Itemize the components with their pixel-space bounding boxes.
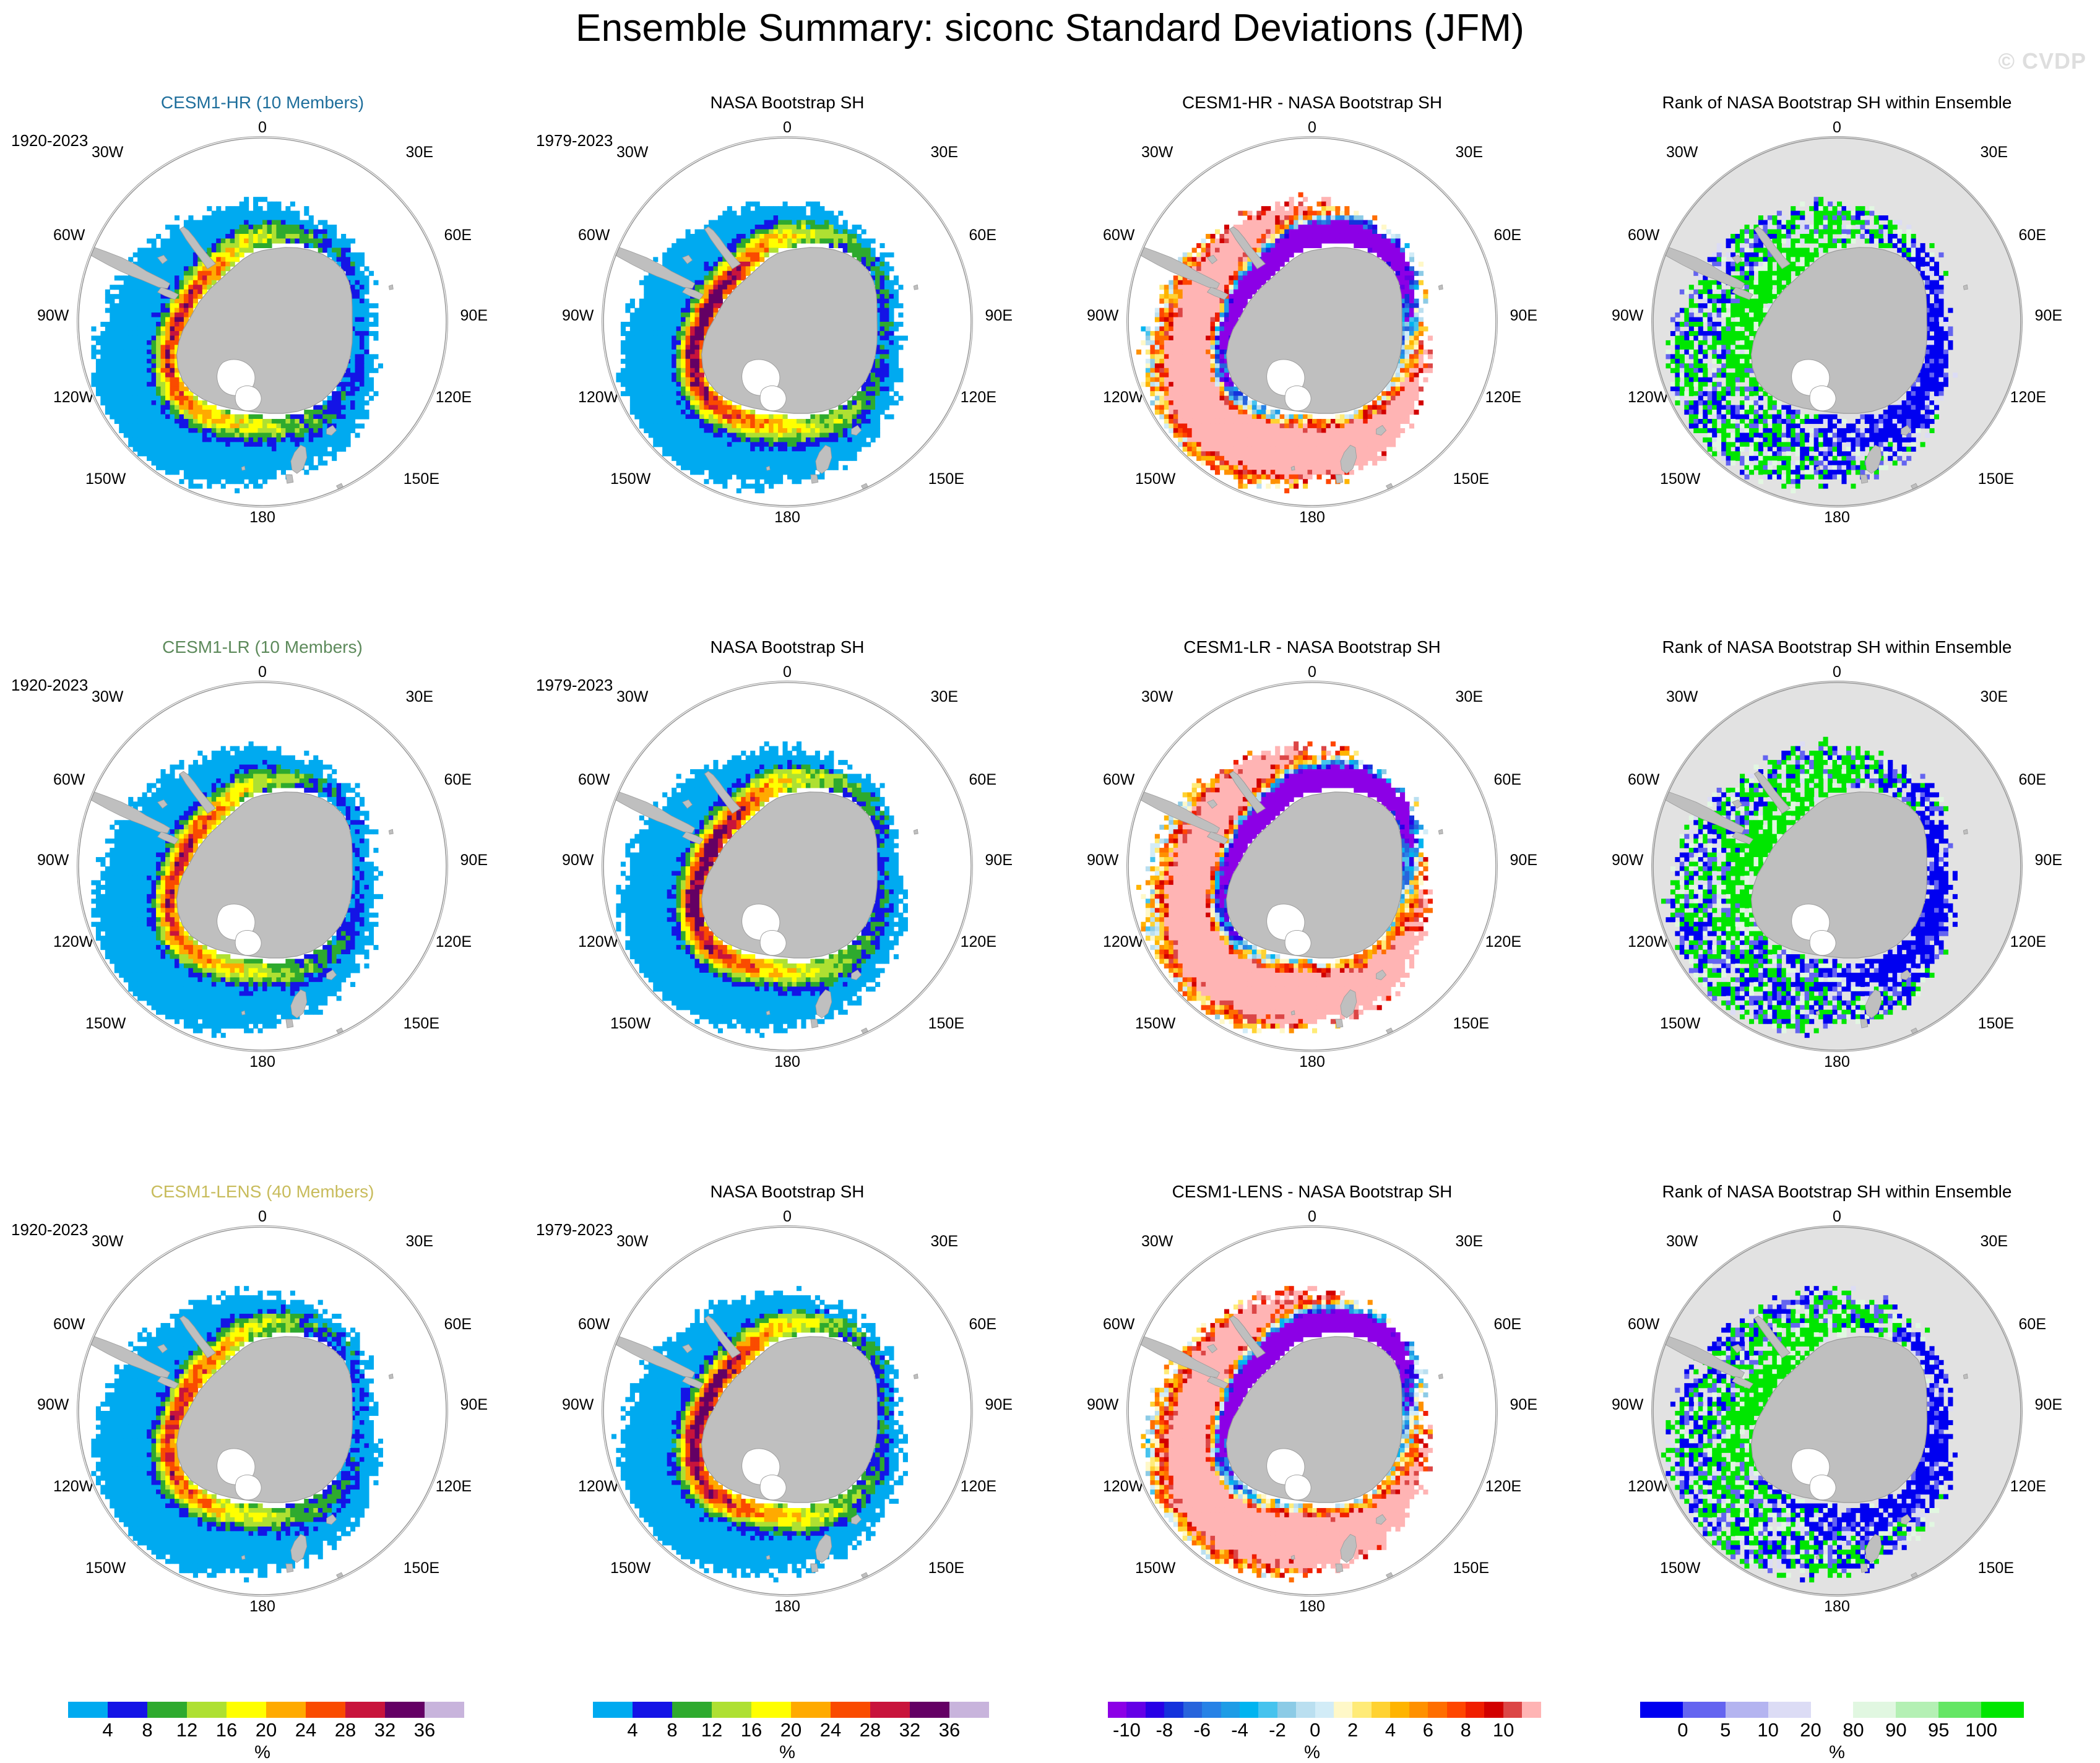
longitude-label: 90E [1510, 307, 1537, 325]
colorbar-segment [1258, 1702, 1277, 1718]
colorbar-unit-label: % [1575, 1743, 2099, 1763]
longitude-label: 90E [460, 307, 488, 325]
longitude-label: 0 [783, 1208, 792, 1226]
map-panel-lens-obs[interactable]: NASA Bootstrap SH1979-2023030W30E60W60E9… [525, 1182, 1050, 1726]
longitude-label: 180 [1824, 1053, 1850, 1071]
map-container: 030W30E60W60E90W90E120W120E150W150E180 [1108, 1212, 1516, 1670]
colorbar-ticks: 4812162024283236 [68, 1719, 464, 1744]
map-container: 030W30E60W60E90W90E120W120E150W150E180 [1633, 667, 2041, 1125]
colorbar-tick-label: 36 [414, 1719, 435, 1741]
colorbar-strip [1640, 1702, 2024, 1718]
colorbar-tick-label: 20 [1800, 1719, 1821, 1741]
map-container: 030W30E60W60E90W90E120W120E150W150E180 [1633, 1212, 2041, 1670]
panel-title: Rank of NASA Bootstrap SH within Ensembl… [1575, 1182, 2099, 1202]
colorbar-segment [1981, 1702, 2024, 1718]
map-container: 030W30E60W60E90W90E120W120E150W150E180 [58, 1212, 467, 1670]
map-container: 030W30E60W60E90W90E120W120E150W150E180 [583, 1212, 992, 1670]
panel-title: Rank of NASA Bootstrap SH within Ensembl… [1575, 93, 2099, 113]
longitude-label: 180 [1299, 1598, 1325, 1616]
map-panel-lr-std[interactable]: CESM1-LR (10 Members)1920-2023030W30E60W… [0, 637, 525, 1182]
longitude-label: 180 [1824, 1598, 1850, 1616]
longitude-label: 0 [1308, 1208, 1316, 1226]
colorbar-segment [1164, 1702, 1183, 1718]
longitude-label: 0 [258, 663, 267, 681]
colorbar-segment [1938, 1702, 1981, 1718]
longitude-label: 60E [444, 771, 472, 789]
longitude-label: 0 [1833, 119, 1841, 137]
colorbar-segment [1202, 1702, 1221, 1718]
panel-title: NASA Bootstrap SH [525, 637, 1050, 657]
colorbar-segment [1409, 1702, 1428, 1718]
colorbar-segment [1240, 1702, 1258, 1718]
panel-title: NASA Bootstrap SH [525, 93, 1050, 113]
colorbar-segment [1126, 1702, 1145, 1718]
panel-grid: CESM1-HR (10 Members)1920-2023030W30E60W… [0, 93, 2100, 1726]
longitude-label: 0 [783, 119, 792, 137]
polar-map-svg [1127, 681, 1497, 1051]
longitude-label: 90W [1612, 851, 1643, 869]
colorbar-segment [949, 1702, 989, 1718]
longitude-label: 60E [2019, 771, 2046, 789]
stereographic-disc [1651, 136, 2023, 507]
colorbar-tick-label: 4 [627, 1719, 637, 1741]
colorbar-tick-label: 5 [1720, 1719, 1731, 1741]
colorbar-segment [791, 1702, 831, 1718]
stereographic-disc [77, 681, 448, 1052]
stereographic-disc [602, 681, 973, 1052]
colorbar-tick-label: 24 [820, 1719, 841, 1741]
colorbar-tick-label: 24 [295, 1719, 316, 1741]
colorbar-unit-label: % [1050, 1743, 1575, 1763]
map-container: 030W30E60W60E90W90E120W120E150W150E180 [58, 123, 467, 580]
longitude-label: 90E [2035, 307, 2062, 325]
colorbar-segment [1390, 1702, 1409, 1718]
colorbar-segment [1768, 1702, 1811, 1718]
colorbar-unit-label: % [0, 1743, 525, 1763]
longitude-label: 60E [1494, 226, 1521, 244]
colorbar-segment [831, 1702, 870, 1718]
colorbar-tick-label: -6 [1193, 1719, 1211, 1741]
colorbar-row: 4812162024283236%4812162024283236%-10-8-… [0, 1697, 2100, 1762]
map-container: 030W30E60W60E90W90E120W120E150W150E180 [583, 123, 992, 580]
map-container: 030W30E60W60E90W90E120W120E150W150E180 [1108, 123, 1516, 580]
longitude-label: 90W [1612, 307, 1643, 325]
stereographic-disc [602, 1225, 973, 1597]
colorbar-tick-label: 100 [1965, 1719, 1997, 1741]
map-panel-hr-diff[interactable]: CESM1-HR - NASA Bootstrap SH030W30E60W60… [1050, 93, 1575, 637]
colorbar-segment [108, 1702, 147, 1718]
map-panel-hr-obs[interactable]: NASA Bootstrap SH1979-2023030W30E60W60E9… [525, 93, 1050, 637]
longitude-label: 180 [249, 1598, 275, 1616]
longitude-label: 180 [774, 1053, 800, 1071]
colorbar-segment [1726, 1702, 1768, 1718]
colorbar-segment [751, 1702, 791, 1718]
longitude-label: 90E [1510, 1396, 1537, 1414]
panel-title: CESM1-LENS (40 Members) [0, 1182, 525, 1202]
colorbar-tick-label: 10 [1757, 1719, 1778, 1741]
longitude-label: 90E [460, 851, 488, 869]
longitude-label: 180 [1824, 509, 1850, 527]
map-panel-hr-std[interactable]: CESM1-HR (10 Members)1920-2023030W30E60W… [0, 93, 525, 637]
panel-title: CESM1-LR (10 Members) [0, 637, 525, 657]
longitude-label: 90E [985, 1396, 1013, 1414]
colorbar-2: -10-8-6-4-20246810% [1050, 1697, 1575, 1762]
colorbar-1: 4812162024283236% [525, 1697, 1050, 1762]
longitude-label: 60E [1494, 771, 1521, 789]
longitude-label: 0 [1833, 663, 1841, 681]
polar-map-svg [77, 1226, 447, 1596]
stereographic-disc [1651, 681, 2023, 1052]
page-title: Ensemble Summary: siconc Standard Deviat… [0, 6, 2100, 50]
map-container: 030W30E60W60E90W90E120W120E150W150E180 [1633, 123, 2041, 580]
longitude-label: 90E [985, 307, 1013, 325]
colorbar-ticks: 4812162024283236 [593, 1719, 989, 1744]
colorbar-segment [1466, 1702, 1484, 1718]
longitude-label: 0 [1308, 119, 1316, 137]
longitude-label: 0 [258, 1208, 267, 1226]
longitude-label: 90E [2035, 1396, 2062, 1414]
stereographic-disc [77, 1225, 448, 1597]
cvdp-watermark: © CVDP [1998, 48, 2086, 74]
colorbar-tick-label: 8 [142, 1719, 152, 1741]
stereographic-disc [1126, 136, 1498, 507]
colorbar-tick-label: 28 [335, 1719, 356, 1741]
longitude-label: 180 [774, 509, 800, 527]
panel-row-lr: CESM1-LR (10 Members)1920-2023030W30E60W… [0, 637, 2100, 1182]
longitude-label: 60E [444, 226, 472, 244]
panel-title: NASA Bootstrap SH [525, 1182, 1050, 1202]
colorbar-segment [266, 1702, 306, 1718]
longitude-label: 0 [783, 663, 792, 681]
colorbar-tick-label: 0 [1677, 1719, 1688, 1741]
colorbar-0: 4812162024283236% [0, 1697, 525, 1762]
longitude-label: 180 [249, 1053, 275, 1071]
map-panel-lr-rank[interactable]: Rank of NASA Bootstrap SH within Ensembl… [1575, 637, 2099, 1182]
colorbar-tick-label: -8 [1156, 1719, 1173, 1741]
stereographic-disc [602, 136, 973, 507]
colorbar-tick-label: 4 [1385, 1719, 1396, 1741]
colorbar-segment [1896, 1702, 1938, 1718]
colorbar-segment [68, 1702, 108, 1718]
longitude-label: 180 [774, 1598, 800, 1616]
colorbar-segment [1296, 1702, 1315, 1718]
longitude-label: 90W [562, 1396, 594, 1414]
longitude-label: 90W [1087, 307, 1118, 325]
polar-map-svg [602, 1226, 972, 1596]
colorbar-tick-label: 20 [780, 1719, 802, 1741]
map-panel-hr-rank[interactable]: Rank of NASA Bootstrap SH within Ensembl… [1575, 93, 2099, 637]
colorbar-tick-label: 20 [256, 1719, 277, 1741]
longitude-label: 90W [1087, 851, 1118, 869]
stereographic-disc [1126, 1225, 1498, 1597]
polar-map-svg [602, 137, 972, 507]
map-panel-lens-std[interactable]: CESM1-LENS (40 Members)1920-2023030W30E6… [0, 1182, 525, 1726]
polar-map-svg [77, 137, 447, 507]
polar-map-svg [1652, 681, 2022, 1051]
colorbar-strip [68, 1702, 464, 1718]
polar-map-svg [1127, 1226, 1497, 1596]
colorbar-tick-label: 8 [667, 1719, 677, 1741]
colorbar-segment [425, 1702, 464, 1718]
colorbar-tick-label: 80 [1843, 1719, 1864, 1741]
longitude-label: 90E [2035, 851, 2062, 869]
panel-title: Rank of NASA Bootstrap SH within Ensembl… [1575, 637, 2099, 657]
colorbar-strip [1108, 1702, 1541, 1718]
panel-row-lens: CESM1-LENS (40 Members)1920-2023030W30E6… [0, 1182, 2100, 1726]
colorbar-segment [1221, 1702, 1240, 1718]
panel-title: CESM1-LR - NASA Bootstrap SH [1050, 637, 1575, 657]
colorbar-segment [1503, 1702, 1522, 1718]
panel-title: CESM1-HR (10 Members) [0, 93, 525, 113]
longitude-label: 90W [562, 307, 594, 325]
colorbar-tick-label: 95 [1928, 1719, 1949, 1741]
colorbar-segment [187, 1702, 227, 1718]
colorbar-segment [1334, 1702, 1352, 1718]
polar-map-svg [1652, 1226, 2022, 1596]
colorbar-tick-label: 12 [176, 1719, 197, 1741]
colorbar-segment [1352, 1702, 1371, 1718]
longitude-label: 0 [1308, 663, 1316, 681]
longitude-label: 90W [37, 307, 69, 325]
longitude-label: 90W [1087, 1396, 1118, 1414]
map-panel-lens-diff[interactable]: CESM1-LENS - NASA Bootstrap SH030W30E60W… [1050, 1182, 1575, 1726]
longitude-label: 60E [969, 771, 996, 789]
stereographic-disc [77, 136, 448, 507]
colorbar-tick-label: 10 [1493, 1719, 1514, 1741]
colorbar-tick-label: 8 [1461, 1719, 1471, 1741]
colorbar-3: 051020809095100% [1575, 1697, 2099, 1762]
polar-map-svg [77, 681, 447, 1051]
longitude-label: 60E [444, 1316, 472, 1334]
colorbar-segment [633, 1702, 672, 1718]
colorbar-unit-label: % [525, 1743, 1050, 1763]
colorbar-segment [1428, 1702, 1446, 1718]
longitude-label: 90W [37, 1396, 69, 1414]
map-panel-lr-diff[interactable]: CESM1-LR - NASA Bootstrap SH030W30E60W60… [1050, 637, 1575, 1182]
colorbar-segment [1484, 1702, 1503, 1718]
stereographic-disc [1126, 681, 1498, 1052]
colorbar-segment [1315, 1702, 1334, 1718]
longitude-label: 60E [1494, 1316, 1521, 1334]
colorbar-tick-label: 16 [741, 1719, 762, 1741]
panel-row-hr: CESM1-HR (10 Members)1920-2023030W30E60W… [0, 93, 2100, 637]
colorbar-segment [345, 1702, 385, 1718]
colorbar-tick-label: -10 [1113, 1719, 1141, 1741]
longitude-label: 60E [2019, 1316, 2046, 1334]
colorbar-segment [1108, 1702, 1126, 1718]
map-panel-lr-obs[interactable]: NASA Bootstrap SH1979-2023030W30E60W60E9… [525, 637, 1050, 1182]
map-panel-lens-rank[interactable]: Rank of NASA Bootstrap SH within Ensembl… [1575, 1182, 2099, 1726]
colorbar-ticks: 051020809095100 [1640, 1719, 2024, 1744]
panel-title: CESM1-HR - NASA Bootstrap SH [1050, 93, 1575, 113]
colorbar-tick-label: -2 [1269, 1719, 1286, 1741]
colorbar-tick-label: 0 [1310, 1719, 1320, 1741]
colorbar-segment [870, 1702, 910, 1718]
colorbar-tick-label: 2 [1347, 1719, 1358, 1741]
longitude-label: 90E [460, 1396, 488, 1414]
map-container: 030W30E60W60E90W90E120W120E150W150E180 [58, 667, 467, 1125]
map-container: 030W30E60W60E90W90E120W120E150W150E180 [1108, 667, 1516, 1125]
longitude-label: 60E [969, 226, 996, 244]
longitude-label: 90W [37, 851, 69, 869]
polar-map-svg [602, 681, 972, 1051]
longitude-label: 60E [969, 1316, 996, 1334]
colorbar-tick-label: 16 [216, 1719, 237, 1741]
colorbar-segment [306, 1702, 345, 1718]
polar-map-svg [1127, 137, 1497, 507]
longitude-label: 0 [1833, 1208, 1841, 1226]
colorbar-tick-label: -4 [1231, 1719, 1248, 1741]
panel-title: CESM1-LENS - NASA Bootstrap SH [1050, 1182, 1575, 1202]
longitude-label: 60E [2019, 226, 2046, 244]
stereographic-disc [1651, 1225, 2023, 1597]
colorbar-segment [910, 1702, 949, 1718]
colorbar-tick-label: 4 [102, 1719, 113, 1741]
longitude-label: 90E [1510, 851, 1537, 869]
colorbar-segment [147, 1702, 187, 1718]
longitude-label: 180 [1299, 1053, 1325, 1071]
colorbar-tick-label: 90 [1885, 1719, 1906, 1741]
colorbar-segment [1372, 1702, 1390, 1718]
colorbar-segment [1183, 1702, 1202, 1718]
longitude-label: 0 [258, 119, 267, 137]
longitude-label: 90E [985, 851, 1013, 869]
colorbar-segment [672, 1702, 712, 1718]
colorbar-segment [1811, 1702, 1854, 1718]
colorbar-ticks: -10-8-6-4-20246810 [1108, 1719, 1541, 1744]
colorbar-tick-label: 28 [860, 1719, 881, 1741]
colorbar-strip [593, 1702, 989, 1718]
colorbar-segment [385, 1702, 425, 1718]
colorbar-segment [1640, 1702, 1683, 1718]
longitude-label: 90W [1612, 1396, 1643, 1414]
colorbar-segment [1447, 1702, 1466, 1718]
map-container: 030W30E60W60E90W90E120W120E150W150E180 [583, 667, 992, 1125]
colorbar-segment [1853, 1702, 1896, 1718]
colorbar-tick-label: 36 [939, 1719, 960, 1741]
colorbar-segment [1277, 1702, 1296, 1718]
colorbar-segment [1522, 1702, 1540, 1718]
colorbar-tick-label: 32 [899, 1719, 920, 1741]
colorbar-segment [1146, 1702, 1164, 1718]
colorbar-segment [227, 1702, 266, 1718]
colorbar-segment [1683, 1702, 1726, 1718]
longitude-label: 90W [562, 851, 594, 869]
colorbar-tick-label: 32 [374, 1719, 395, 1741]
colorbar-segment [593, 1702, 633, 1718]
colorbar-tick-label: 12 [701, 1719, 722, 1741]
longitude-label: 180 [1299, 509, 1325, 527]
colorbar-segment [712, 1702, 751, 1718]
polar-map-svg [1652, 137, 2022, 507]
longitude-label: 180 [249, 509, 275, 527]
colorbar-tick-label: 6 [1423, 1719, 1433, 1741]
